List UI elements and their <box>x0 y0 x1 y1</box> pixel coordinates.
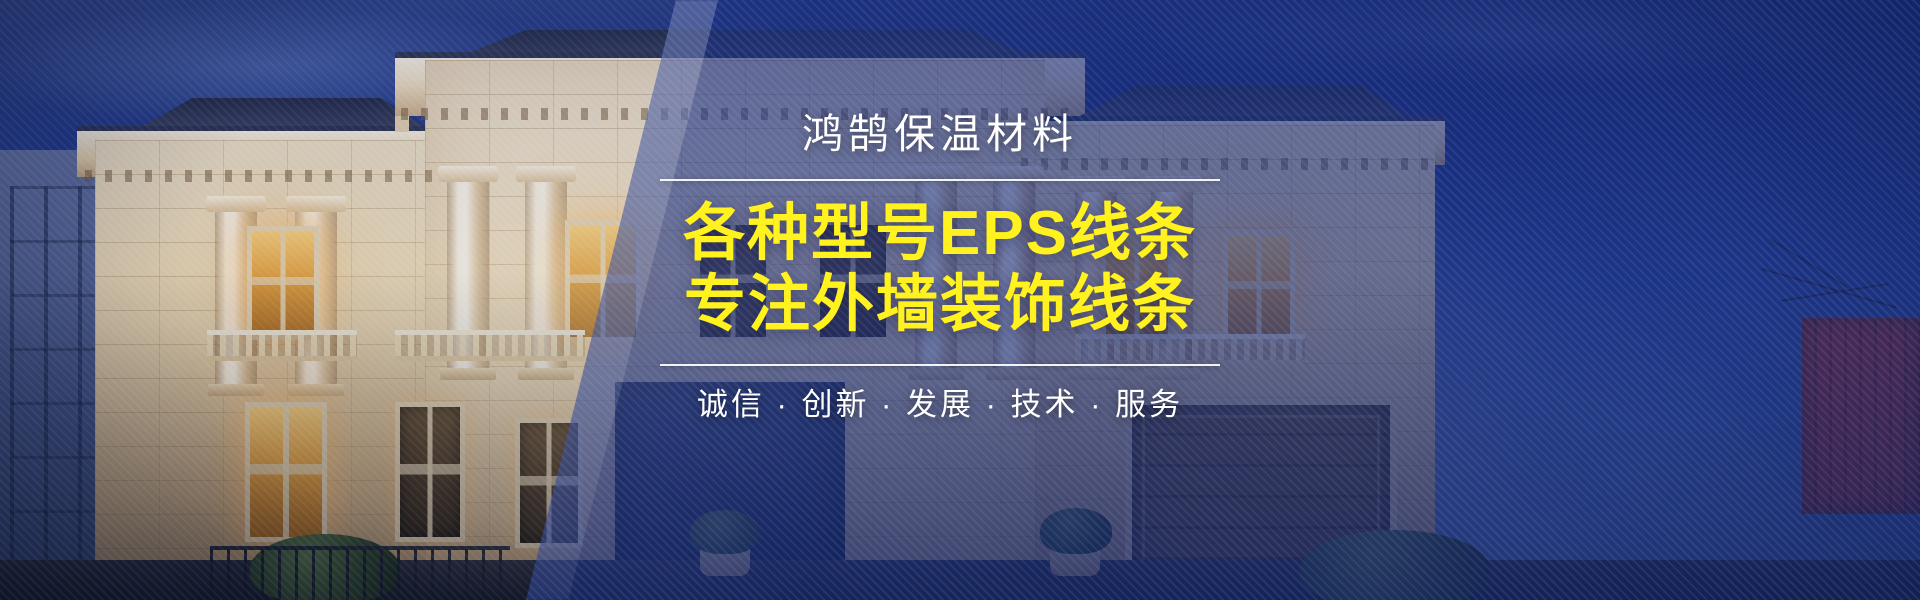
divider-top <box>660 179 1220 181</box>
brand-name: 鸿鹄保温材料 <box>660 112 1220 157</box>
window <box>395 402 465 542</box>
banner-copy-block: 鸿鹄保温材料 各种型号EPS线条 专注外墙装饰线条 诚信 · 创新 · 发展 ·… <box>660 112 1220 424</box>
headline-group: 各种型号EPS线条 专注外墙装饰线条 <box>660 199 1220 340</box>
window-lit <box>245 402 327 542</box>
headline-line-2: 专注外墙装饰线条 <box>660 270 1220 341</box>
headline-line-1: 各种型号EPS线条 <box>660 199 1220 270</box>
railing <box>210 546 510 600</box>
balustrade <box>395 330 585 361</box>
hero-banner: 鸿鹄保温材料 各种型号EPS线条 专注外墙装饰线条 诚信 · 创新 · 发展 ·… <box>0 0 1920 600</box>
window-lit <box>247 226 319 340</box>
dentil-row-left <box>85 170 465 182</box>
divider-bottom <box>660 364 1220 366</box>
balustrade <box>207 330 357 361</box>
tagline: 诚信 · 创新 · 发展 · 技术 · 服务 <box>660 386 1220 423</box>
